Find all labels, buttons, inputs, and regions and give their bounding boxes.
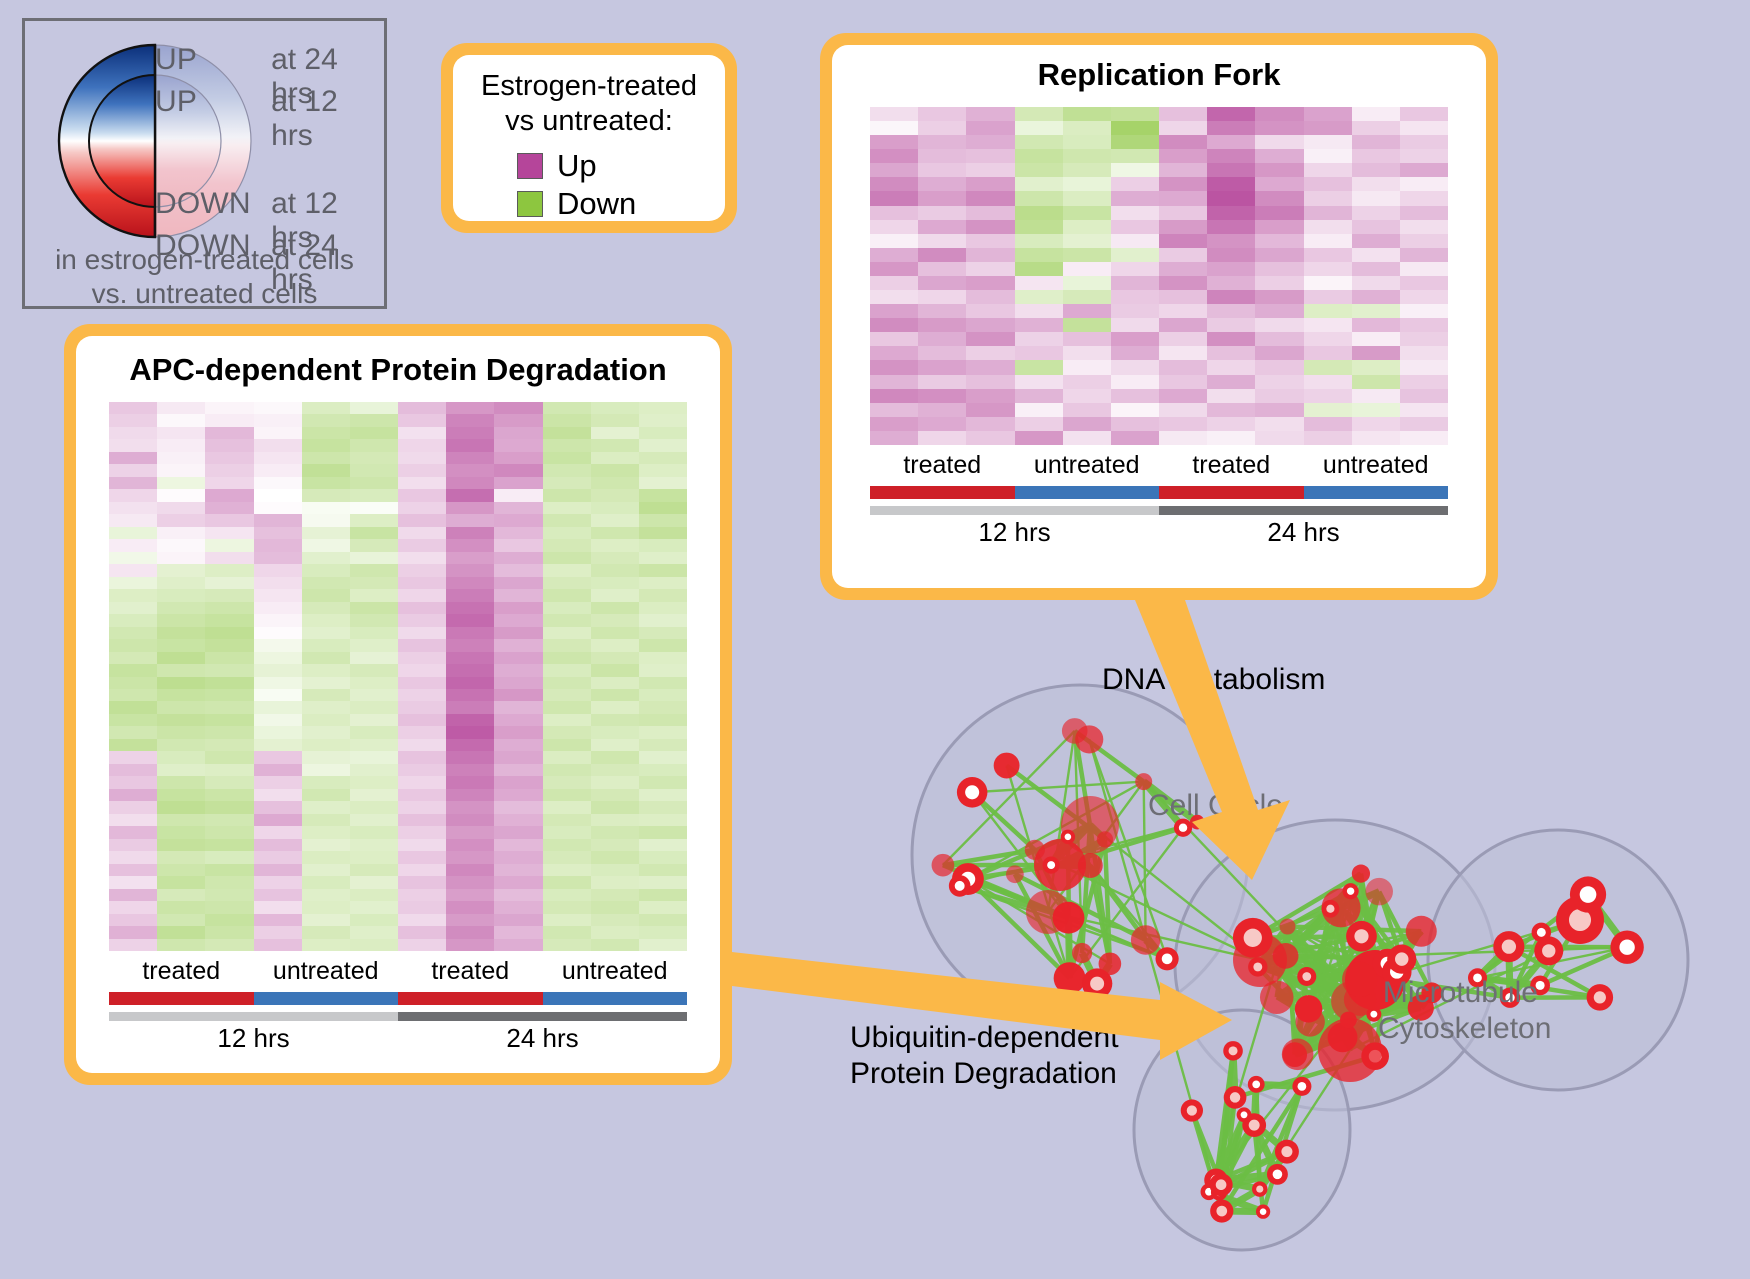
heatmap-cell [446,577,494,589]
heatmap-cell [1207,177,1255,191]
heatmap-cell [966,431,1014,445]
heatmap-cell [1304,191,1352,205]
heatmap-cell [1400,304,1448,318]
heatmap-cell [1255,220,1303,234]
heatmap-cell [591,514,639,526]
heatmap-cell [1111,375,1159,389]
heatmap-cell [109,751,157,763]
heatmap-cell [1159,234,1207,248]
heatmap-cell [302,739,350,751]
heatmap-cell [109,652,157,664]
heatmap-cell [1063,431,1111,445]
heatmap-cell [254,714,302,726]
heatmap-cell [1015,149,1063,163]
heatmap-cell [1111,417,1159,431]
heatmap-cell [494,639,542,651]
heatmap-cell [205,439,253,451]
heatmap-cell [1352,191,1400,205]
heatmap-cell [494,527,542,539]
heatmap-cell [1352,318,1400,332]
heatmap-cell [918,206,966,220]
heatmap-cell [1352,304,1400,318]
heatmap-cell [1111,149,1159,163]
network-node-core [1542,944,1555,957]
heatmap-cell [1063,191,1111,205]
heatmap-cell [918,346,966,360]
heatmap-cell [494,664,542,676]
heatmap-cell [205,851,253,863]
heatmap-cell [1111,346,1159,360]
heatmap-cell [109,489,157,501]
heatmap-cell [1400,346,1448,360]
heatmap-cell [966,107,1014,121]
heatmap-cell [1111,431,1159,445]
heatmap-cell [591,926,639,938]
heatmap-cell [494,627,542,639]
estrogen-legend-entries: Up Down [453,147,725,221]
heatmap-cell [1207,121,1255,135]
heatmap-cell [446,614,494,626]
heatmap-cell [639,502,687,514]
heatmap-cell [591,627,639,639]
legend-entry-up: Up [517,147,725,185]
heatmap-cell [446,564,494,576]
heatmap-cell [446,701,494,713]
heatmap-cell [205,876,253,888]
heatmap-cell [1015,332,1063,346]
heatmap-cell [494,564,542,576]
heatmap-cell [494,652,542,664]
heatmap-cell [1304,107,1352,121]
heatmap-cell [446,602,494,614]
heatmap-cell [1063,403,1111,417]
heatmap-cell [446,427,494,439]
heatmap-cell [157,864,205,876]
heatmap-cell [543,439,591,451]
heatmap-cell [591,764,639,776]
heatmap-cell [870,220,918,234]
heatmap-cell [302,914,350,926]
heatmap-cell [302,789,350,801]
heatmap-cell [639,414,687,426]
heatmap-cell [157,564,205,576]
timepoint-label: 24 hrs [398,1023,687,1054]
heatmap-cell [639,689,687,701]
heatmap-cell [446,452,494,464]
heatmap-cell [157,801,205,813]
heatmap-cell [254,764,302,776]
heatmap-cell [109,939,157,951]
heatmap-cell [1400,135,1448,149]
heatmap-cell [254,414,302,426]
heatmap-cell [494,514,542,526]
heatmap-cell [918,360,966,374]
heatmap-cell [591,864,639,876]
heatmap-cell [302,477,350,489]
heatmap-cell [1400,318,1448,332]
heatmap-cell [1015,360,1063,374]
heatmap-cell [543,789,591,801]
heatmap-cell [543,826,591,838]
heatmap-cell [446,639,494,651]
heatmap-cell [446,502,494,514]
heatmap-cell [398,689,446,701]
heatmap-cell [966,262,1014,276]
heatmap-cell [350,527,398,539]
heatmap-cell [398,614,446,626]
heatmap-cell [205,714,253,726]
heatmap-cell [591,414,639,426]
up-color-swatch [517,153,543,179]
network-node-core [1244,929,1262,947]
heatmap-cell [494,864,542,876]
heatmap-cell [639,664,687,676]
heatmap-cell [918,431,966,445]
heatmap-cell [1063,290,1111,304]
heatmap-cell [1159,135,1207,149]
heatmap-cell [109,527,157,539]
heatmap-cell [494,764,542,776]
heatmap-cell [1400,248,1448,262]
heatmap-cell [1015,206,1063,220]
heatmap-cell [157,614,205,626]
heatmap-cell [1207,191,1255,205]
heatmap-cell [1400,332,1448,346]
heatmap-cell [918,375,966,389]
heatmap-cell [157,527,205,539]
heatmap-cell [350,439,398,451]
heatmap-cell [1111,220,1159,234]
network-node-core [1241,1111,1248,1118]
heatmap-cell [591,477,639,489]
heatmap-cell [350,464,398,476]
heatmap-cell [543,402,591,414]
heatmap-cell [302,889,350,901]
heatmap-cell [543,502,591,514]
heatmap-cell [1400,163,1448,177]
heatmap-cell [446,439,494,451]
network-node [994,753,1020,779]
heatmap-cell [254,639,302,651]
heatmap-cell [1400,220,1448,234]
heatmap-cell [918,389,966,403]
network-node-core [1162,953,1173,964]
heatmap-cell [398,489,446,501]
heatmap-cell [1159,417,1207,431]
network-node-core [1354,929,1368,943]
heatmap-cell [1063,177,1111,191]
network-node-core [1580,886,1597,903]
heatmap-cell [1255,332,1303,346]
heatmap-cell [1207,375,1255,389]
network-node-core [1260,1208,1267,1215]
heatmap-cell [1159,431,1207,445]
heatmap-cell [254,564,302,576]
heatmap-cell [1255,121,1303,135]
heatmap-cell [918,149,966,163]
heatmap-cell [109,901,157,913]
heatmap-cell [302,776,350,788]
heatmap-cell [591,739,639,751]
heatmap-cell [543,514,591,526]
heatmap-cell [254,439,302,451]
heatmap-cell [350,839,398,851]
heatmap-cell [1159,191,1207,205]
heatmap-cell [966,206,1014,220]
heatmap-cell [109,701,157,713]
heatmap-cell [446,789,494,801]
key-direction: UP [155,43,271,77]
heatmap-cell [254,602,302,614]
heatmap-cell [494,801,542,813]
heatmap-cell [1159,389,1207,403]
heatmap-cell [639,589,687,601]
heatmap-cell [1255,149,1303,163]
heatmap-cell [1015,318,1063,332]
heatmap-cell [494,726,542,738]
heatmap-cell [254,701,302,713]
heatmap-cell [1063,220,1111,234]
network-node [1006,865,1024,883]
heatmap-cell [494,427,542,439]
heatmap-cell [494,739,542,751]
network-node [1365,878,1393,906]
heatmap-cell [639,751,687,763]
heatmap-cell [350,427,398,439]
heatmap-cell [1255,304,1303,318]
heatmap-cell [109,477,157,489]
heatmap-cell [591,914,639,926]
heatmap-cell [1304,403,1352,417]
key-footer: in estrogen-treated cells vs. untreated … [25,243,384,311]
network-node [1099,952,1122,975]
heatmap-cell [494,751,542,763]
heatmap-cell [350,826,398,838]
heatmap-cell [1255,135,1303,149]
key-footer-line1: in estrogen-treated cells [25,243,384,277]
heatmap-cell [446,801,494,813]
heatmap-cell [494,789,542,801]
heatmap-cell [918,304,966,318]
heatmap-cell [639,477,687,489]
heatmap-cell [254,614,302,626]
heatmap-cell [446,477,494,489]
heatmap-cell [109,577,157,589]
heatmap-cell [591,901,639,913]
heatmap-cell [350,539,398,551]
heatmap-cell [109,677,157,689]
heatmap-cell [966,304,1014,318]
heatmap-cell [870,332,918,346]
heatmap-cell [446,514,494,526]
treatment-color-bar [1304,486,1449,499]
heatmap-cell [302,552,350,564]
heatmap-cell [591,677,639,689]
heatmap-cell [254,901,302,913]
heatmap-cell [254,577,302,589]
network-node-core [1395,952,1408,965]
heatmap-cell [591,751,639,763]
heatmap-cell [543,726,591,738]
heatmap-cell [350,614,398,626]
heatmap-cell [109,589,157,601]
heatmap-cell [1015,121,1063,135]
heatmap-cell [494,926,542,938]
heatmap-cell [350,701,398,713]
heatmap-cell [870,149,918,163]
heatmap-cell [870,276,918,290]
heatmap-cell [1255,403,1303,417]
heatmap-cell [870,234,918,248]
heatmap-cell [302,826,350,838]
heatmap-cell [870,403,918,417]
heatmap-cell [639,452,687,464]
heatmap-cell [157,701,205,713]
heatmap-cell [205,627,253,639]
heatmap-cell [109,714,157,726]
heatmap-cell [398,402,446,414]
heatmap-cell [591,577,639,589]
heatmap-cell [639,614,687,626]
legend-title-line2: vs untreated: [453,104,725,139]
heatmap-cell [398,914,446,926]
heatmap-cell [494,577,542,589]
heatmap-cell [591,789,639,801]
heatmap-cell [1159,375,1207,389]
heatmap-cell [398,539,446,551]
heatmap-cell [350,577,398,589]
heatmap-cell [1400,234,1448,248]
heatmap-cell [1352,177,1400,191]
heatmap-cell [591,814,639,826]
heatmap-cell [109,402,157,414]
heatmap-cell [157,839,205,851]
heatmap-cell [639,914,687,926]
heatmap-cell [109,602,157,614]
heatmap-cell [1063,332,1111,346]
heatmap-cell [1352,135,1400,149]
heatmap-cell [109,726,157,738]
replication-fork-time-labels: 12 hrs24 hrs [870,517,1448,548]
heatmap-cell [350,739,398,751]
heatmap-cell [1304,389,1352,403]
heatmap-cell [1015,431,1063,445]
heatmap-cell [302,751,350,763]
heatmap-cell [398,851,446,863]
treatment-color-bar [109,992,254,1005]
protein-interaction-network: DNA Metabolism Cell Cycle Microtubule Cy… [790,620,1750,1279]
cluster-label-dna-metabolism: DNA Metabolism [1102,662,1325,698]
heatmap-cell [639,876,687,888]
heatmap-cell [870,135,918,149]
heatmap-cell [1255,234,1303,248]
replication-fork-time-bars [870,506,1448,515]
heatmap-cell [1015,107,1063,121]
heatmap-cell [543,539,591,551]
heatmap-cell [1304,149,1352,163]
heatmap-cell [591,851,639,863]
heatmap-cell [205,739,253,751]
heatmap-cell [1015,276,1063,290]
heatmap-cell [1063,121,1111,135]
heatmap-cell [350,564,398,576]
heatmap-cell [350,789,398,801]
heatmap-cell [109,427,157,439]
heatmap-cell [205,452,253,464]
heatmap-cell [543,564,591,576]
heatmap-cell [1304,262,1352,276]
heatmap-cell [157,539,205,551]
heatmap-cell [446,926,494,938]
heatmap-cell [591,689,639,701]
heatmap-cell [398,926,446,938]
heatmap-cell [398,826,446,838]
heatmap-cell [1111,191,1159,205]
heatmap-cell [398,901,446,913]
heatmap-cell [446,864,494,876]
apc-group-labels: treateduntreatedtreateduntreated [109,957,687,986]
heatmap-cell [1063,360,1111,374]
heatmap-cell [350,864,398,876]
heatmap-cell [1159,220,1207,234]
heatmap-cell [302,701,350,713]
heatmap-cell [109,839,157,851]
heatmap-cell [205,939,253,951]
heatmap-cell [350,814,398,826]
heatmap-cell [870,417,918,431]
heatmap-cell [591,839,639,851]
heatmap-cell [639,889,687,901]
heatmap-cell [1159,149,1207,163]
network-node [1131,925,1160,954]
heatmap-cell [302,901,350,913]
heatmap-cell [398,502,446,514]
heatmap-cell [543,739,591,751]
heatmap-cell [543,764,591,776]
network-node-core [1252,1080,1260,1088]
heatmap-cell [918,403,966,417]
heatmap-cell [543,652,591,664]
heatmap-cell [109,464,157,476]
heatmap-cell [1400,417,1448,431]
heatmap-cell [591,889,639,901]
network-node-core [1187,1105,1197,1115]
heatmap-cell [639,801,687,813]
heatmap-cell [543,839,591,851]
heatmap-cell [302,527,350,539]
network-node [1075,725,1103,753]
heatmap-cell [543,677,591,689]
heatmap-cell [543,689,591,701]
heatmap-cell [1207,276,1255,290]
heatmap-cell [157,589,205,601]
heatmap-cell [1400,107,1448,121]
heatmap-cell [591,402,639,414]
heatmap-cell [350,714,398,726]
heatmap-cell [1255,346,1303,360]
heatmap-cell [254,851,302,863]
heatmap-cell [1111,290,1159,304]
heatmap-cell [870,431,918,445]
network-node-core [1090,977,1104,991]
heatmap-cell [1304,290,1352,304]
heatmap-cell [254,776,302,788]
heatmap-cell [543,602,591,614]
heatmap-cell [494,826,542,838]
timepoint-color-bar [109,1012,398,1021]
heatmap-cell [254,826,302,838]
heatmap-cell [398,939,446,951]
